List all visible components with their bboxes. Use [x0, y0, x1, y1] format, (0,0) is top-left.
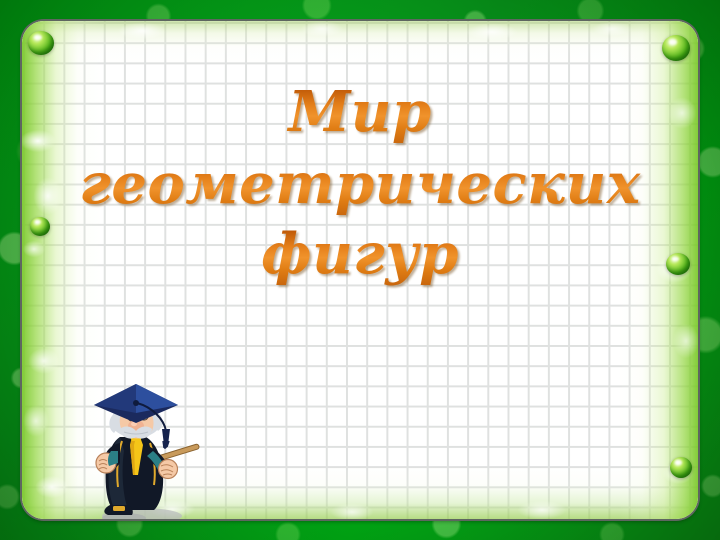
title-line-3: фигур [22, 223, 698, 287]
professor-mascot-icon [80, 379, 204, 519]
title-line-1: Мир [22, 81, 698, 145]
title-line-2: геометрических [22, 153, 698, 217]
slide-title: Мир геометрических фигур [22, 81, 698, 286]
content-panel: Мир геометрических фигур [22, 21, 698, 519]
presentation-slide: Мир геометрических фигур [0, 0, 720, 540]
